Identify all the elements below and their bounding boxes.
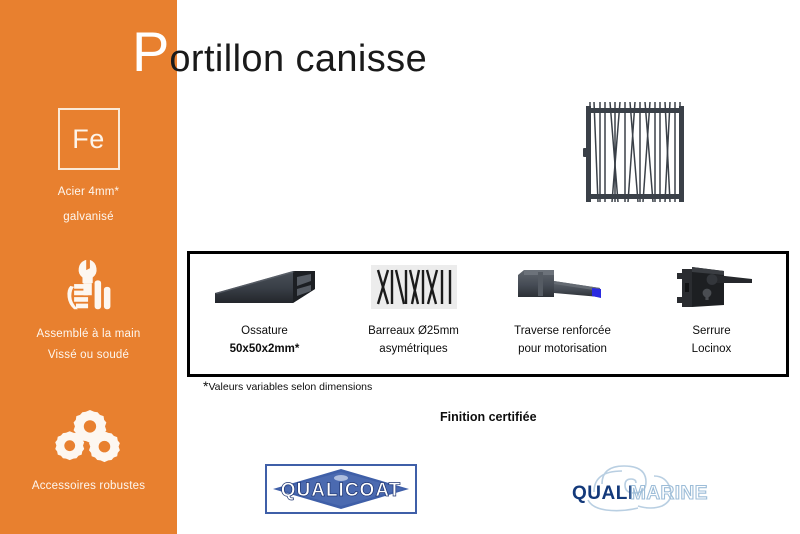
sidebar-feature-steel-line2: galvanisé <box>0 207 177 228</box>
spec-item-frame-line1: Ossature <box>241 322 288 340</box>
spec-item-bars: Barreaux Ø25mm asymétriques <box>339 254 488 374</box>
qualicoat-logo: QUALICOAT <box>265 464 417 514</box>
qualimarine-logo-graphic: QUALI MARINE <box>558 462 718 514</box>
spec-item-frame-line2: 50x50x2mm* <box>230 340 300 358</box>
frame-profile-image <box>211 261 319 313</box>
certification-heading: Finition certifiée <box>440 410 537 424</box>
spec-item-lock-line1: Serrure <box>692 322 730 340</box>
wrench-hand-icon <box>60 258 118 312</box>
sidebar-feature-steel-line1: Acier 4mm* <box>0 182 177 203</box>
page-title-capital: P <box>132 24 168 80</box>
footnote-text: Valeurs variables selon dimensions <box>208 381 372 393</box>
spec-item-lock-line2: Locinox <box>692 340 732 358</box>
poster-page: Fe Acier 4mm* galvanisé <box>0 0 800 534</box>
qualimarine-logo: QUALI MARINE <box>558 462 718 514</box>
sidebar-feature-assembly-line1: Assemblé à la main <box>0 324 177 345</box>
qualicoat-logo-text: QUALICOAT <box>281 480 402 501</box>
spec-item-lock: Serrure Locinox <box>637 254 786 374</box>
sidebar-feature-accessories-line1: Accessoires robustes <box>0 476 177 497</box>
qualimarine-logo-text-quali: QUALI <box>572 483 634 504</box>
asymmetric-bars-image <box>371 261 457 313</box>
spec-item-crossbar-line2: pour motorisation <box>518 340 607 358</box>
page-title-rest: ortillon canisse <box>169 40 427 78</box>
sidebar-feature-assembly-lines: Assemblé à la main Vissé ou soudé <box>0 324 177 366</box>
spec-item-crossbar-line1: Traverse renforcée <box>514 322 611 340</box>
sidebar-feature-accessories-lines: Accessoires robustes <box>0 476 177 497</box>
spec-item-bars-line1: Barreaux Ø25mm <box>368 322 459 340</box>
reinforced-crossbar-image <box>508 261 618 313</box>
sidebar-feature-steel: Fe Acier 4mm* galvanisé <box>0 108 177 234</box>
sidebar-feature-assembly-line2: Vissé ou soudé <box>0 345 177 366</box>
locinox-lock-image <box>666 261 758 313</box>
qualicoat-logo-graphic: QUALICOAT <box>267 466 415 512</box>
spec-item-bars-line2: asymétriques <box>379 340 447 358</box>
fe-symbol: Fe <box>72 126 105 153</box>
footnote: *Valeurs variables selon dimensions <box>203 378 372 394</box>
gate-photo <box>574 90 696 212</box>
fe-element-box-icon: Fe <box>58 108 120 170</box>
sidebar-feature-accessories: Accessoires robustes <box>0 410 177 503</box>
sidebar-feature-steel-lines: Acier 4mm* galvanisé <box>0 182 177 228</box>
gears-icon <box>53 410 125 464</box>
spec-item-frame: Ossature 50x50x2mm* <box>190 254 339 374</box>
sidebar-feature-assembly: Assemblé à la main Vissé ou soudé <box>0 258 177 372</box>
qualimarine-logo-text-marine: MARINE <box>630 483 708 504</box>
specifications-box: Ossature 50x50x2mm* <box>187 251 789 377</box>
spec-item-crossbar: Traverse renforcée pour motorisation <box>488 254 637 374</box>
page-title: P ortillon canisse <box>132 24 427 86</box>
